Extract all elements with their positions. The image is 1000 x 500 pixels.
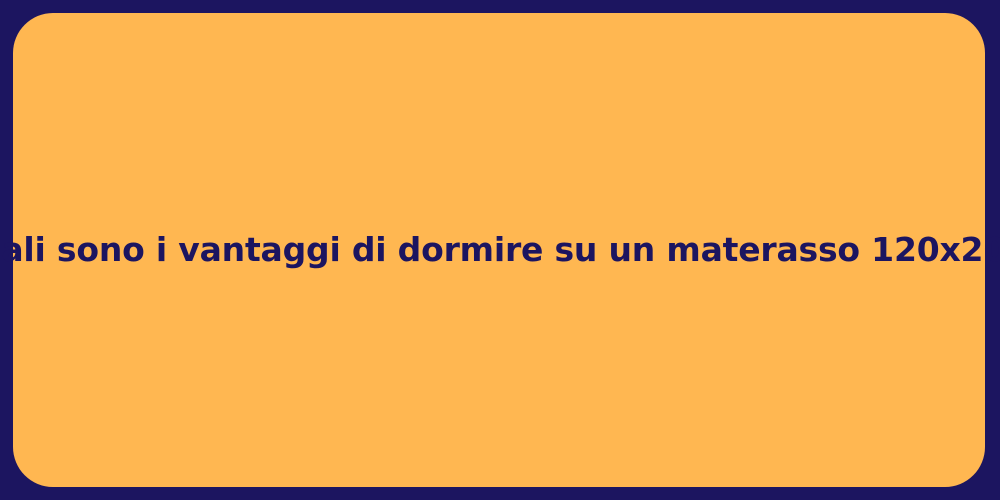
question-card-panel: Quali sono i vantaggi di dormire su un m…	[13, 13, 985, 487]
question-headline: Quali sono i vantaggi di dormire su un m…	[0, 229, 1000, 270]
question-card-frame: Quali sono i vantaggi di dormire su un m…	[0, 0, 1000, 500]
